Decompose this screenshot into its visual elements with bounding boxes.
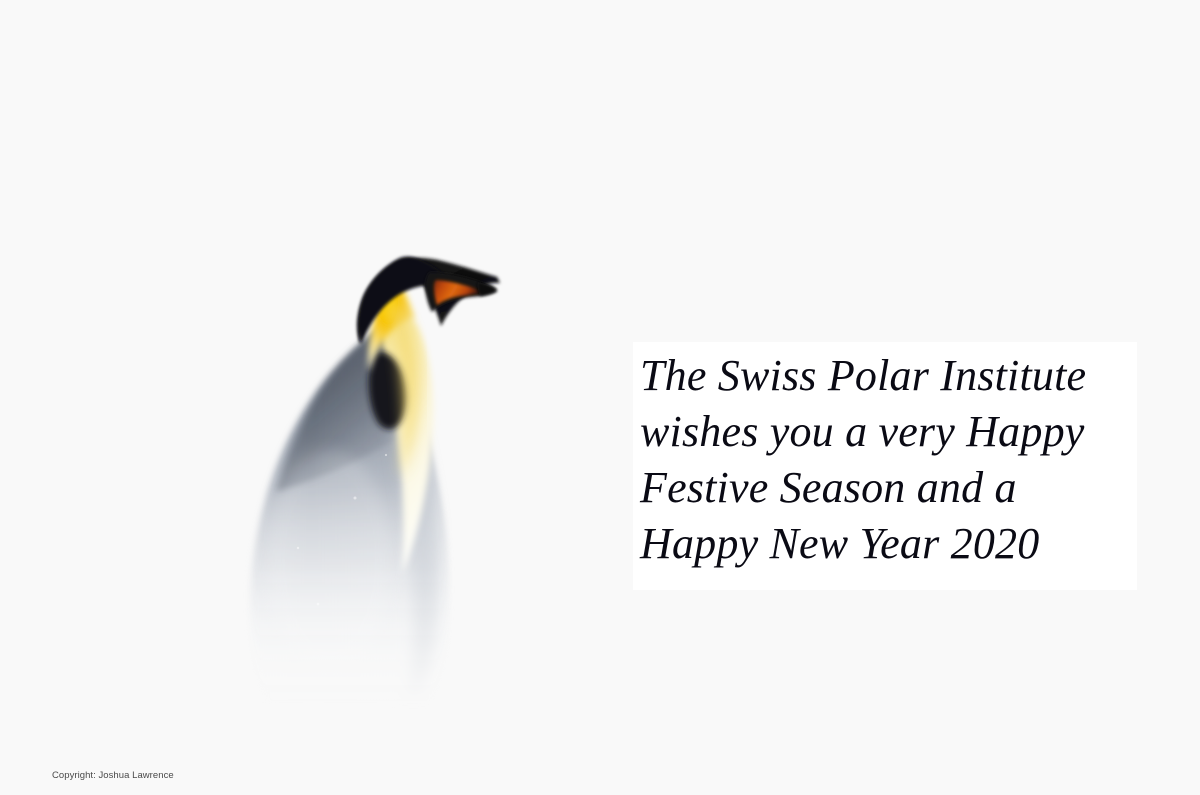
penguin-belly-highlight (268, 450, 392, 670)
greeting-message: The Swiss Polar Institute wishes you a v… (640, 348, 1132, 572)
photo-credit: Copyright: Joshua Lawrence (52, 770, 174, 781)
greeting-card: The Swiss Polar Institute wishes you a v… (0, 0, 1200, 795)
greeting-panel: The Swiss Polar Institute wishes you a v… (633, 342, 1137, 590)
